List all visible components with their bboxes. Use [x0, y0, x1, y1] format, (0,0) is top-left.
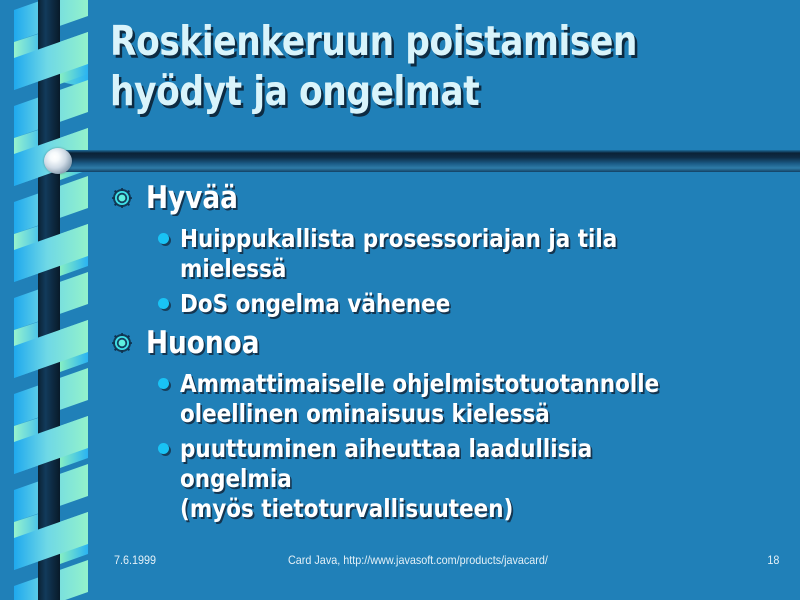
slide-content: Hyvää Huippukallista prosessoriajan ja t… — [108, 180, 798, 530]
footer-page-number: 18 — [767, 553, 779, 567]
sub-bullet-list: Ammattimaiselle ohjelmistotuotannolle ol… — [108, 369, 798, 524]
sub-bullet-list: Huippukallista prosessoriajan ja tila mi… — [108, 224, 798, 319]
gear-bullet-icon — [112, 188, 132, 208]
helix-decoration — [0, 0, 100, 600]
list-item-label: DoS ongelma vähenee — [180, 289, 711, 319]
title-divider-bar — [55, 150, 800, 172]
dot-bullet-icon — [158, 443, 169, 454]
divider-sphere-icon — [44, 148, 72, 174]
dot-bullet-icon — [158, 378, 169, 389]
page-title: Roskienkeruun poistamisen hyödyt ja onge… — [110, 16, 648, 116]
list-item-label: Ammattimaiselle ohjelmistotuotannolle ol… — [180, 369, 711, 429]
presentation-slide: Roskienkeruun poistamisen hyödyt ja onge… — [0, 0, 800, 600]
list-item: DoS ongelma vähenee — [154, 289, 798, 319]
dot-bullet-icon — [158, 298, 169, 309]
slide-footer: 7.6.1999 Card Java, http://www.javasoft.… — [0, 551, 800, 573]
dot-bullet-icon — [158, 233, 169, 244]
footer-source-note: Card Java, http://www.javasoft.com/produ… — [288, 553, 548, 567]
content-section: Hyvää — [108, 180, 798, 218]
list-item-label: Huippukallista prosessoriajan ja tila mi… — [180, 224, 711, 284]
list-item: Huippukallista prosessoriajan ja tila mi… — [154, 224, 798, 284]
footer-date: 7.6.1999 — [114, 553, 156, 567]
helix-pole — [38, 0, 60, 600]
helix-ribbon-graphic — [0, 0, 100, 600]
list-item: Ammattimaiselle ohjelmistotuotannolle ol… — [154, 369, 798, 429]
gear-bullet-icon — [112, 333, 132, 353]
list-item-label: puuttuminen aiheuttaa laadullisia ongelm… — [180, 434, 711, 524]
title-block: Roskienkeruun poistamisen hyödyt ja onge… — [110, 16, 750, 116]
list-item: puuttuminen aiheuttaa laadullisia ongelm… — [154, 434, 798, 524]
content-section: Huonoa — [108, 325, 798, 363]
section-heading: Hyvää — [146, 180, 700, 217]
section-heading: Huonoa — [146, 325, 700, 362]
